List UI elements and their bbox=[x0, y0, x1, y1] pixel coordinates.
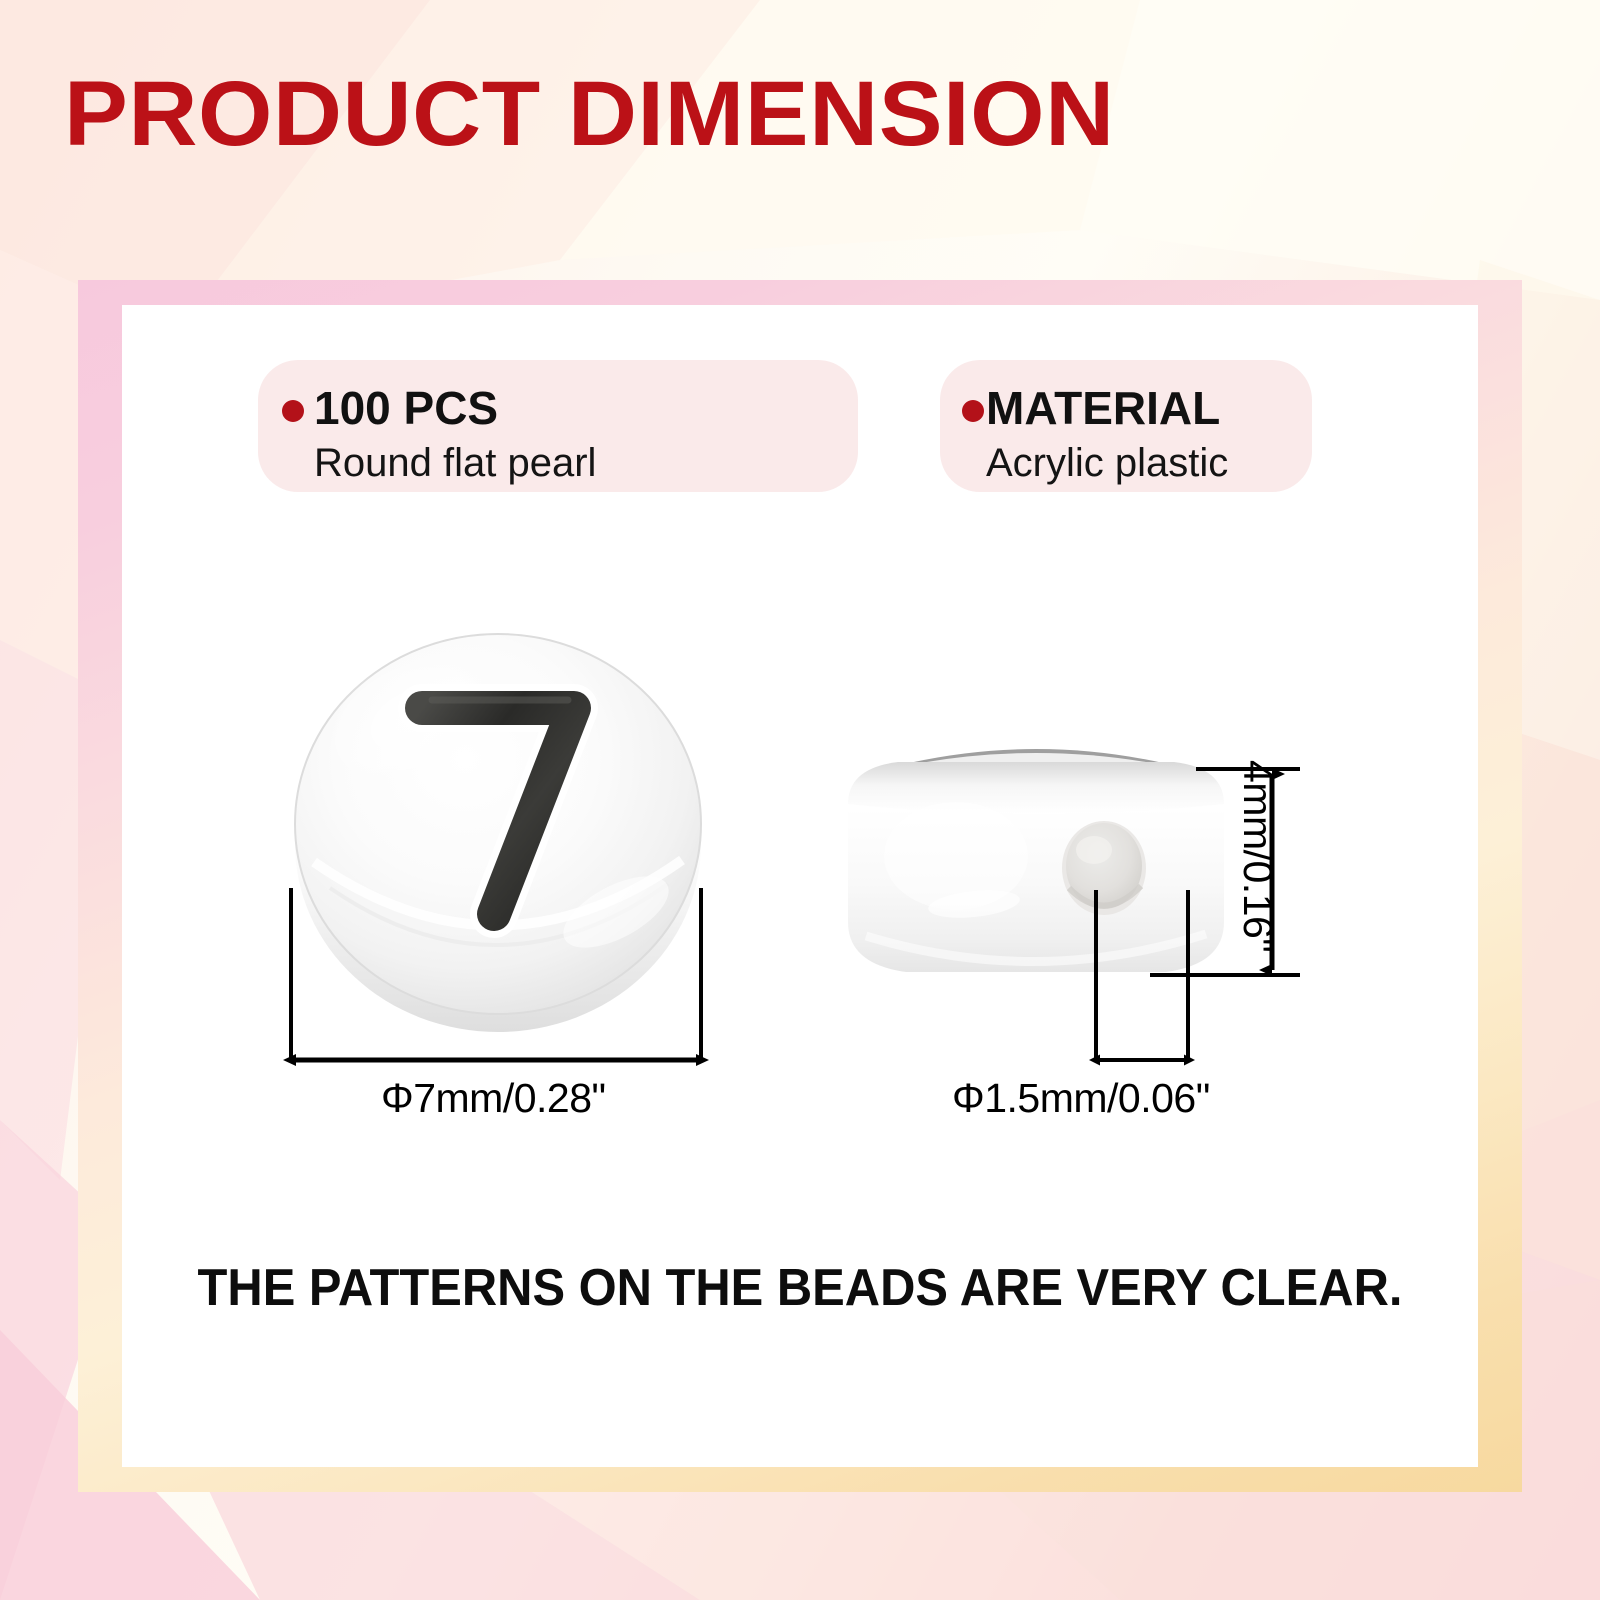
product-photo-front-view bbox=[286, 612, 716, 1042]
feature-title-quantity: 100 PCS bbox=[314, 385, 498, 431]
feature-subtitle-material: Acrylic plastic bbox=[986, 443, 1228, 483]
product-photo-side-view bbox=[826, 726, 1246, 990]
feature-pill-material: MATERIAL Acrylic plastic bbox=[940, 360, 1312, 492]
dimension-label-diameter: Φ7mm/0.28" bbox=[381, 1075, 606, 1122]
feature-pill-quantity: 100 PCS Round flat pearl bbox=[258, 360, 858, 492]
dimension-label-thickness: 4mm/0.16" bbox=[1234, 760, 1281, 952]
feature-title-material: MATERIAL bbox=[986, 385, 1220, 431]
red-dot-icon bbox=[962, 400, 984, 422]
footer-caption: THE PATTERNS ON THE BEADS ARE VERY CLEAR… bbox=[48, 1258, 1552, 1318]
red-dot-icon bbox=[282, 400, 304, 422]
dimension-label-hole-diameter: Φ1.5mm/0.06" bbox=[952, 1075, 1210, 1122]
feature-subtitle-quantity: Round flat pearl bbox=[314, 443, 596, 483]
page-title: PRODUCT DIMENSION bbox=[64, 62, 1115, 167]
